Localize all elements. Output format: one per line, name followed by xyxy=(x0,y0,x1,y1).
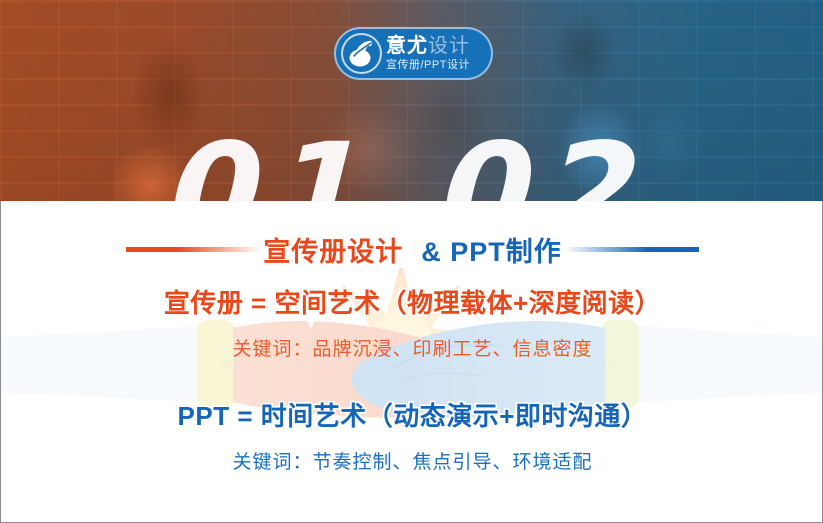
statement-text-brochure: 宣传册 = 空间艺术（物理载体+深度阅读） xyxy=(1,289,823,319)
statement-gap xyxy=(1,432,823,452)
decorative-rule-orange xyxy=(126,247,261,252)
brand-logo-name: 意尤设计 xyxy=(386,36,470,56)
statement-text-ppt: PPT = 时间艺术（动态演示+即时沟通） xyxy=(1,402,823,432)
content-panel: 宣传册设计 & PPT制作 宣传册 = 空间艺术（物理载体+深度阅读） 关键词：… xyxy=(0,201,823,523)
brand-logo-text: 意尤设计 宣传册/PPT设计 xyxy=(386,36,470,71)
statement-gap xyxy=(1,319,823,339)
keywords-text-brochure: 关键词：品牌沉浸、印刷工艺、信息密度 xyxy=(1,339,823,362)
brand-logo-name-bold: 意尤 xyxy=(386,35,428,57)
block-gap xyxy=(1,362,823,402)
brand-logo-badge[interactable]: 意尤设计 宣传册/PPT设计 xyxy=(334,27,493,80)
statement-block-ppt: PPT = 时间艺术（动态演示+即时沟通） 关键词：节奏控制、焦点引导、环境适配 xyxy=(1,402,823,475)
statement-list: 宣传册 = 空间艺术（物理载体+深度阅读） 关键词：品牌沉浸、印刷工艺、信息密度… xyxy=(1,289,823,474)
headline-row: 宣传册设计 & PPT制作 xyxy=(1,230,823,269)
hero-photo-band: 01 02 意尤设计 宣传册/PPT设计 xyxy=(0,0,823,201)
brand-logo-name-light: 设计 xyxy=(428,35,470,57)
brand-logo-subtitle: 宣传册/PPT设计 xyxy=(386,60,470,71)
decorative-rule-blue xyxy=(564,247,699,252)
headline-blue: & PPT制作 xyxy=(419,230,564,269)
keywords-text-ppt: 关键词：节奏控制、焦点引导、环境适配 xyxy=(1,452,823,475)
brush-bird-circle-icon xyxy=(341,33,382,74)
headline-orange: 宣传册设计 xyxy=(261,230,405,269)
statement-block-brochure: 宣传册 = 空间艺术（物理载体+深度阅读） 关键词：品牌沉浸、印刷工艺、信息密度 xyxy=(1,289,823,362)
slide-canvas: 01 02 意尤设计 宣传册/PPT设计 xyxy=(0,0,823,523)
